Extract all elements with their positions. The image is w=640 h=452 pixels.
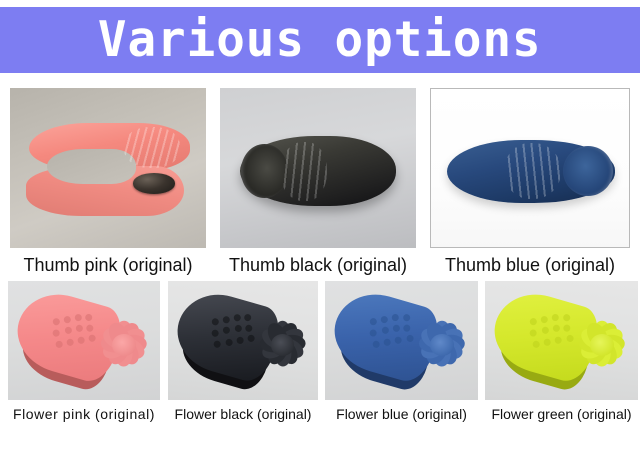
product-card-thumb-black[interactable]: Thumb black (original) [220,88,416,248]
flower-cap-blue [412,317,471,371]
product-caption-flower-pink: Flower pink (original) [8,405,160,423]
thumb-sleeve-shape-black [240,136,397,206]
flower-clip-shape-green [494,288,629,393]
product-card-flower-green[interactable]: Flower green (original) [485,281,638,400]
product-caption-thumb-pink: Thumb pink (original) [10,254,206,276]
product-caption-flower-blue: Flower blue (original) [325,405,478,423]
thumb-inner-gap [47,149,136,184]
flower-cap-green [572,317,631,371]
flower-cap-black [254,317,312,371]
product-card-flower-pink[interactable]: Flower pink (original) [8,281,160,400]
header-banner: Various options [0,7,640,73]
product-photo-flower-pink [8,281,160,400]
flower-clip-shape-black [177,288,309,393]
thumb-open-end [241,144,288,197]
product-caption-flower-black: Flower black (original) [168,405,318,423]
product-caption-thumb-black: Thumb black (original) [220,254,416,276]
product-caption-flower-green: Flower green (original) [485,405,638,423]
thumb-ridge-texture [504,143,561,199]
flower-clip-shape-pink [17,288,151,393]
thumb-clip-shape-pink [26,123,191,216]
flower-product-row: Flower pink (original) [0,281,640,449]
product-card-flower-blue[interactable]: Flower blue (original) [325,281,478,400]
product-card-thumb-blue[interactable]: Thumb blue (original) [430,88,630,248]
flower-cap-pink [95,317,154,371]
product-caption-thumb-blue: Thumb blue (original) [430,254,630,276]
flower-clip-shape-blue [334,288,469,393]
page-title: Various options [98,15,542,65]
product-card-thumb-pink[interactable]: Thumb pink (original) [10,88,206,248]
product-photo-thumb-black [220,88,416,248]
product-photo-flower-black [168,281,318,400]
thumb-sleeve-shape-blue [447,140,615,203]
product-options-banner: Various options Thumb pink (original) [0,0,640,452]
product-photo-thumb-pink [10,88,206,248]
product-photo-flower-green [485,281,638,400]
thumb-product-row: Thumb pink (original) Thumb black (origi… [0,88,640,280]
product-photo-thumb-blue [430,88,630,248]
thumb-control-button [133,173,176,193]
product-photo-flower-blue [325,281,478,400]
product-card-flower-black[interactable]: Flower black (original) [168,281,318,400]
